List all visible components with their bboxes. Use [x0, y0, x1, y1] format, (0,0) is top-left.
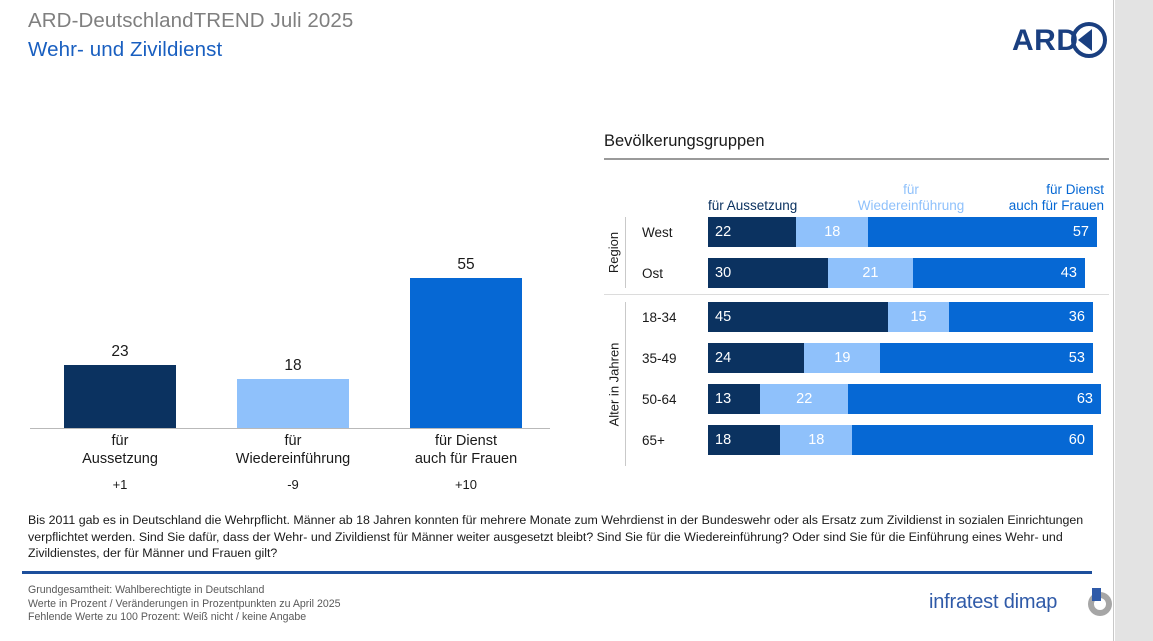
footnote-line: Grundgesamtheit: Wahlberechtigte in Deut…	[28, 584, 341, 598]
group-separator	[604, 294, 1109, 295]
segment-aussetzung: 24	[708, 343, 804, 373]
slide-canvas: ARD-DeutschlandTREND Juli 2025 Wehr- und…	[0, 0, 1153, 641]
segment-wiedereinfuehrung: 22	[760, 384, 848, 414]
population-groups-panel: Bevölkerungsgruppen für Aussetzung fürWi…	[604, 132, 1109, 466]
bar-value-label: 23	[64, 343, 176, 361]
segment-aussetzung: 45	[708, 302, 888, 332]
table-row: 18-34 45 15 36	[604, 302, 1109, 332]
footer-divider	[22, 571, 1092, 574]
segment-frauen: 63	[848, 384, 1101, 414]
stacked-bar: 13 22 63	[708, 384, 1109, 414]
segment-value: 30	[715, 258, 731, 288]
segment-frauen: 36	[949, 302, 1093, 332]
segment-wiedereinfuehrung: 18	[796, 217, 868, 247]
page-gutter	[1115, 0, 1153, 641]
stacked-bar: 18 18 60	[708, 425, 1109, 455]
segment-value: 60	[1069, 425, 1085, 455]
segment-aussetzung: 22	[708, 217, 796, 247]
question-text: Bis 2011 gab es in Deutschland die Wehrp…	[28, 512, 1090, 562]
row-label: 18-34	[642, 302, 677, 332]
bar-rect	[410, 278, 522, 428]
legend-wiedereinfuehrung: fürWiedereinführung	[836, 182, 986, 214]
segment-value: 53	[1069, 343, 1085, 373]
segment-wiedereinfuehrung: 19	[804, 343, 880, 373]
dimap-circle-icon	[1081, 588, 1119, 620]
segment-aussetzung: 18	[708, 425, 780, 455]
legend-column-headers: für Aussetzung fürWiedereinführung für D…	[604, 166, 1109, 214]
segment-value: 15	[888, 302, 948, 332]
stacked-bar: 22 18 57	[708, 217, 1109, 247]
segment-value: 19	[804, 343, 880, 373]
footnote-line: Fehlende Werte zu 100 Prozent: Weiß nich…	[28, 611, 341, 625]
group-rows: Region West 22 18 57	[604, 217, 1109, 466]
stacked-bar: 24 19 53	[708, 343, 1109, 373]
bar-column-frauen: 55	[410, 256, 522, 428]
table-row: Ost 30 21 43	[604, 258, 1109, 288]
left-bar-chart: 23 fürAussetzung +1 18 fürWiedereinführu…	[0, 250, 580, 500]
group-alter: Alter in Jahren 18-34 45 15 36	[604, 302, 1109, 466]
legend-aussetzung: für Aussetzung	[708, 198, 838, 214]
segment-wiedereinfuehrung: 18	[780, 425, 852, 455]
left-chart-baseline	[30, 428, 550, 429]
infratest-dimap-wordmark: infratest dimap	[929, 591, 1057, 614]
segment-value: 24	[715, 343, 731, 373]
segment-aussetzung: 13	[708, 384, 760, 414]
table-row: 35-49 24 19 53	[604, 343, 1109, 373]
stacked-bar: 30 21 43	[708, 258, 1109, 288]
bar-rect	[64, 365, 176, 428]
segment-value: 13	[715, 384, 731, 414]
segment-value: 43	[1061, 258, 1077, 288]
svg-text:ARD: ARD	[1012, 24, 1079, 57]
bar-value-label: 55	[410, 256, 522, 274]
page-title: Wehr- und Zivildienst	[28, 38, 222, 62]
bar-column-aussetzung: 23	[64, 343, 176, 428]
segment-frauen: 57	[868, 217, 1097, 247]
bar-category-label: für Dienstauch für Frauen	[381, 432, 551, 468]
stacked-bar: 45 15 36	[708, 302, 1109, 332]
bar-delta-label: -9	[208, 477, 378, 492]
segment-value: 57	[1073, 217, 1089, 247]
panel-divider	[604, 158, 1109, 160]
slide-kicker: ARD-DeutschlandTREND Juli 2025	[28, 9, 353, 33]
footnote-line: Werte in Prozent / Veränderungen in Proz…	[28, 598, 341, 612]
row-label: 65+	[642, 425, 665, 455]
legend-frauen: für Dienstauch für Frauen	[982, 182, 1104, 214]
segment-value: 63	[1077, 384, 1093, 414]
table-row: West 22 18 57	[604, 217, 1109, 247]
bar-delta-label: +10	[381, 477, 551, 492]
bar-column-wiedereinfuehrung: 18	[237, 357, 349, 428]
bar-delta-label: +1	[35, 477, 205, 492]
segment-wiedereinfuehrung: 21	[828, 258, 912, 288]
segment-aussetzung: 30	[708, 258, 828, 288]
segment-value: 22	[760, 384, 848, 414]
row-label: Ost	[642, 258, 663, 288]
segment-value: 36	[1069, 302, 1085, 332]
slide-page: ARD-DeutschlandTREND Juli 2025 Wehr- und…	[0, 0, 1114, 641]
row-label: 35-49	[642, 343, 677, 373]
table-row: 65+ 18 18 60	[604, 425, 1109, 455]
segment-value: 45	[715, 302, 731, 332]
table-row: 50-64 13 22 63	[604, 384, 1109, 414]
segment-frauen: 53	[880, 343, 1093, 373]
segment-frauen: 60	[852, 425, 1093, 455]
panel-title: Bevölkerungsgruppen	[604, 132, 1109, 151]
segment-wiedereinfuehrung: 15	[888, 302, 948, 332]
ard-logo: ARD	[1012, 18, 1108, 62]
footnotes: Grundgesamtheit: Wahlberechtigte in Deut…	[28, 584, 341, 625]
bar-value-label: 18	[237, 357, 349, 375]
segment-value: 18	[715, 425, 731, 455]
row-label: West	[642, 217, 673, 247]
bar-category-label: fürAussetzung	[35, 432, 205, 468]
segment-value: 18	[796, 217, 868, 247]
group-region: Region West 22 18 57	[604, 217, 1109, 288]
segment-value: 18	[780, 425, 852, 455]
bar-category-label: fürWiedereinführung	[208, 432, 378, 468]
segment-value: 22	[715, 217, 731, 247]
bar-rect	[237, 379, 349, 428]
segment-frauen: 43	[913, 258, 1085, 288]
row-label: 50-64	[642, 384, 677, 414]
segment-value: 21	[828, 258, 912, 288]
